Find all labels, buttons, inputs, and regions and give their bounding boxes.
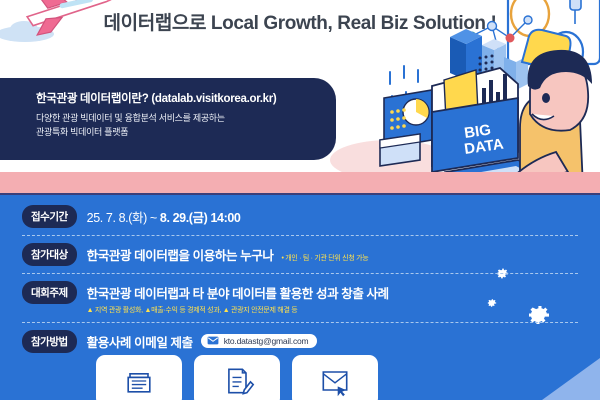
callout-line-1: 다양한 관광 빅데이터 및 융합분석 서비스를 제공하는 bbox=[36, 112, 320, 126]
topic-text: 한국관광 데이터랩과 타 분야 데이터를 활용한 성과 창출 사례 bbox=[87, 287, 389, 301]
row-label-badge: 대회주제 bbox=[22, 281, 77, 304]
poster-root: 데이터랩으로 Local Growth, Real Biz Solution ! bbox=[0, 0, 600, 400]
card-email-send[interactable] bbox=[292, 355, 378, 400]
pink-divider-band bbox=[0, 172, 600, 195]
apply-method-text: 활용사례 이메일 제출 bbox=[87, 336, 193, 350]
row-value: 활용사례 이메일 제출kto.datastg@gmail.com bbox=[87, 332, 578, 351]
row-value: 25. 7. 8.(화) ~ 8. 29.(금) 14:00 bbox=[87, 207, 578, 226]
document-pencil-icon bbox=[219, 363, 255, 399]
topic-examples: ▲ 지역 관광 활성화, ▲매출·수익 등 경제적 성과, ▲ 관광지 안전문제… bbox=[87, 305, 578, 315]
eligibility-text: 한국관광 데이터랩을 이용하는 누구나 bbox=[87, 249, 274, 263]
row-divider bbox=[22, 322, 578, 323]
row-label-badge: 참가대상 bbox=[22, 243, 77, 266]
detail-row-eligibility: 참가대상 한국관광 데이터랩을 이용하는 누구나• 개인 · 팀 · 기관 단위… bbox=[22, 243, 578, 274]
detail-rows: 접수기간 25. 7. 8.(화) ~ 8. 29.(금) 14:00 참가대상… bbox=[22, 205, 578, 353]
callout-title: 한국관광 데이터랩이란? (datalab.visitkorea.or.kr) bbox=[36, 90, 320, 106]
row-label-badge: 접수기간 bbox=[22, 205, 77, 228]
card-document[interactable] bbox=[96, 355, 182, 400]
row-value: 한국관광 데이터랩을 이용하는 누구나• 개인 · 팀 · 기관 단위 신청 가… bbox=[87, 245, 578, 264]
email-chip[interactable]: kto.datastg@gmail.com bbox=[201, 334, 318, 348]
eligibility-note: • 개인 · 팀 · 기관 단위 신청 가능 bbox=[281, 255, 368, 262]
big-data-illustration: BIG DATA bbox=[370, 0, 600, 172]
period-end: 8. 29.(금) 14:00 bbox=[160, 211, 241, 225]
row-label-badge: 참가방법 bbox=[22, 330, 77, 353]
info-callout: 한국관광 데이터랩이란? (datalab.visitkorea.or.kr) … bbox=[0, 78, 336, 160]
row-divider bbox=[22, 273, 578, 274]
process-cards bbox=[96, 355, 378, 400]
email-address: kto.datastg@gmail.com bbox=[224, 336, 309, 346]
row-value: 한국관광 데이터랩과 타 분야 데이터를 활용한 성과 창출 사례 bbox=[87, 283, 578, 302]
document-stack-icon bbox=[121, 363, 157, 399]
detail-row-application-period: 접수기간 25. 7. 8.(화) ~ 8. 29.(금) 14:00 bbox=[22, 205, 578, 236]
row-divider bbox=[22, 235, 578, 236]
card-form-edit[interactable] bbox=[194, 355, 280, 400]
envelope-cursor-icon bbox=[317, 363, 353, 399]
detail-row-how-to-apply: 참가방법 활용사례 이메일 제출kto.datastg@gmail.com bbox=[22, 330, 578, 353]
corner-triangle-accent bbox=[542, 358, 600, 400]
poster-details-section: 접수기간 25. 7. 8.(화) ~ 8. 29.(금) 14:00 참가대상… bbox=[0, 195, 600, 400]
callout-line-2: 관광특화 빅데이터 플랫폼 bbox=[36, 126, 320, 140]
detail-row-topic: 대회주제 한국관광 데이터랩과 타 분야 데이터를 활용한 성과 창출 사례 ▲… bbox=[22, 281, 578, 323]
period-start: 25. 7. 8.(화) ~ bbox=[87, 211, 160, 225]
envelope-icon bbox=[207, 336, 219, 345]
